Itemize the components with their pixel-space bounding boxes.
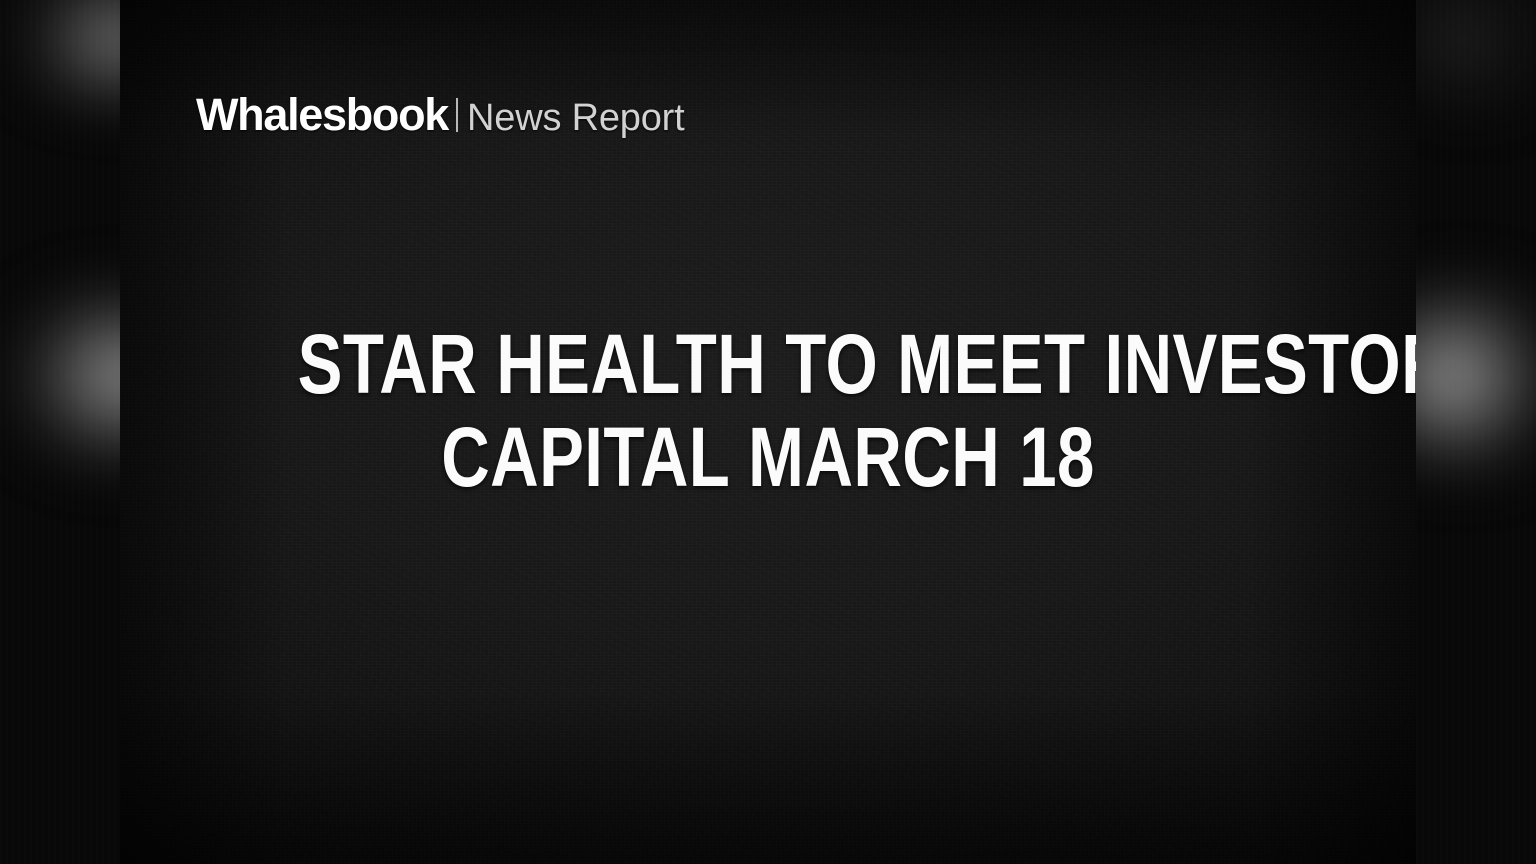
news-card-stage: Whalesbook News Report STAR HEALTH TO ME…: [0, 0, 1536, 864]
news-card: Whalesbook News Report STAR HEALTH TO ME…: [120, 0, 1416, 864]
brand-divider-icon: [456, 98, 458, 132]
headline-line-1: STAR HEALTH TO MEET INVESTOR AMANSA: [298, 318, 1239, 411]
brand-subtitle: News Report: [467, 99, 684, 137]
brand-name: Whalesbook: [196, 92, 448, 137]
headline-line-2: CAPITAL MARCH 18: [298, 411, 1239, 504]
brand-lockup[interactable]: Whalesbook News Report: [196, 92, 684, 137]
card-content: Whalesbook News Report STAR HEALTH TO ME…: [120, 0, 1416, 864]
page-title: STAR HEALTH TO MEET INVESTOR AMANSA CAPI…: [298, 318, 1239, 504]
